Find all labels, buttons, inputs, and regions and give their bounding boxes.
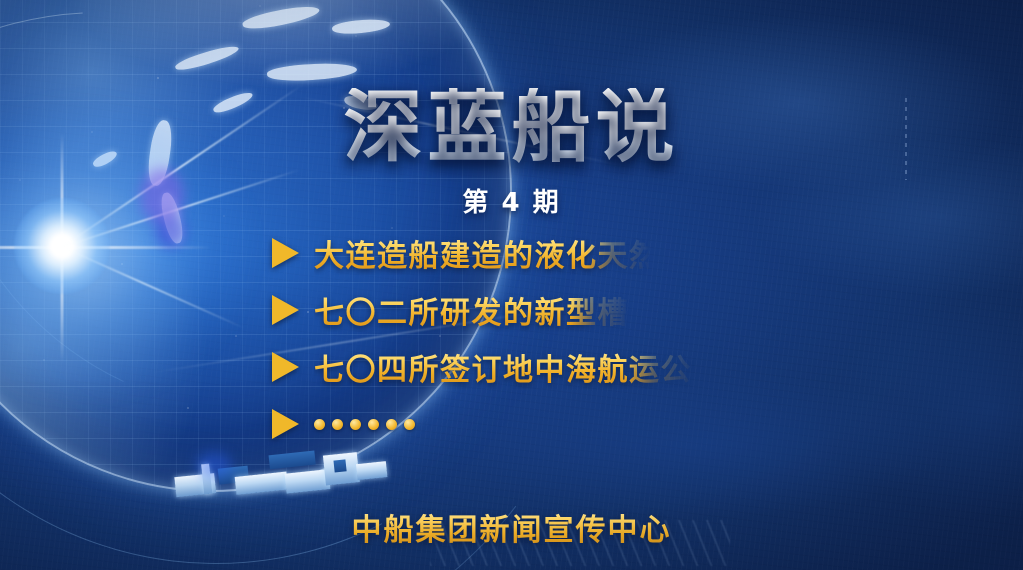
topic-list: 大连造船建造的液化天然气 七〇二所研发的新型槽道 七〇四所签订地中海航运公司 [272, 234, 812, 462]
broadcast-title-card: 深蓝船说 第 4 期 大连造船建造的液化天然气 七〇二所研发的新型槽道 七〇四所… [0, 0, 1023, 570]
list-item-label: 七〇四所签订地中海航运公司 [314, 345, 724, 389]
list-item-label: 大连造船建造的液化天然气 [314, 231, 692, 275]
play-triangle-icon [272, 409, 299, 439]
ellipsis-dot [332, 419, 343, 430]
list-item[interactable]: 七〇四所签订地中海航运公司 [272, 348, 812, 386]
ellipsis-dot [404, 419, 415, 430]
port-block [285, 469, 331, 493]
port-block [235, 472, 289, 495]
list-item[interactable]: 七〇二所研发的新型槽道 [272, 291, 812, 329]
list-item[interactable]: 大连造船建造的液化天然气 [272, 234, 812, 272]
play-triangle-icon [272, 295, 299, 325]
ellipsis-dot [386, 419, 397, 430]
chromatic-flare-blob [156, 214, 186, 248]
ellipsis-dots [314, 419, 415, 430]
ellipsis-dot [350, 419, 361, 430]
play-triangle-icon [272, 238, 299, 268]
ellipsis-dot [368, 419, 379, 430]
ellipsis-dot [314, 419, 325, 430]
port-block [356, 461, 388, 480]
list-item[interactable] [272, 405, 812, 443]
footer-organization: 中船集团新闻宣传中心 [0, 505, 1023, 549]
issue-number-label: 第 4 期 [0, 182, 1023, 219]
chromatic-flare-blob [196, 452, 232, 478]
list-item-label: 七〇二所研发的新型槽道 [314, 288, 661, 332]
page-title: 深蓝船说 [0, 88, 1023, 167]
play-triangle-icon [272, 352, 299, 382]
